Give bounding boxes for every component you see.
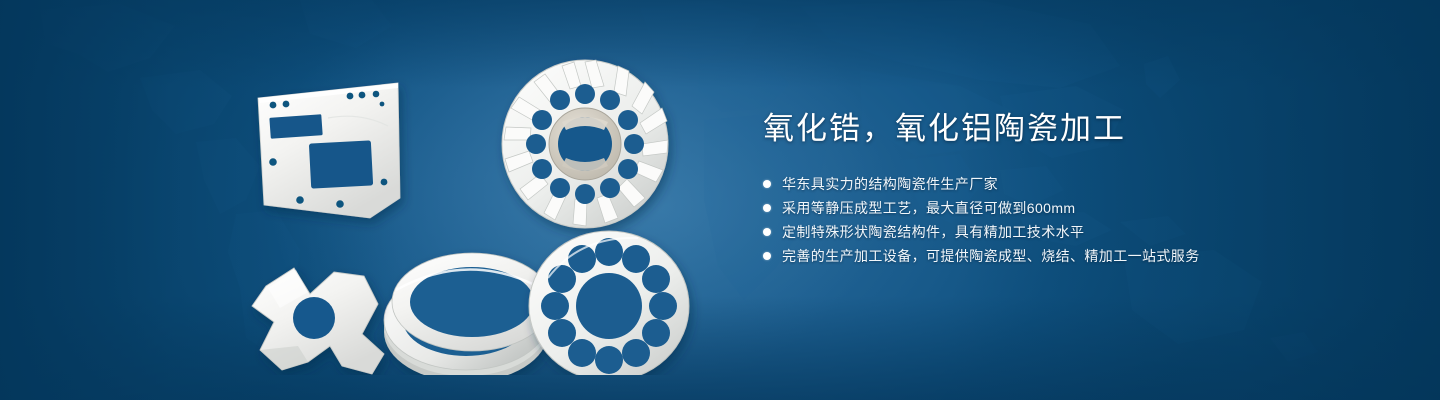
bullet-dot-icon bbox=[763, 228, 771, 236]
list-item-label: 采用等静压成型工艺，最大直径可做到600mm bbox=[782, 196, 1075, 220]
bullet-dot-icon bbox=[763, 252, 771, 260]
list-item: 完善的生产加工设备，可提供陶瓷成型、烧结、精加工一站式服务 bbox=[763, 244, 1363, 268]
list-item-label: 完善的生产加工设备，可提供陶瓷成型、烧结、精加工一站式服务 bbox=[782, 244, 1200, 268]
list-item-label: 定制特殊形状陶瓷结构件，具有精加工技术水平 bbox=[782, 220, 1084, 244]
ceramic-cross-part bbox=[252, 268, 384, 374]
list-item: 采用等静压成型工艺，最大直径可做到600mm bbox=[763, 196, 1363, 220]
feature-list: 华东具实力的结构陶瓷件生产厂家 采用等静压成型工艺，最大直径可做到600mm 定… bbox=[763, 172, 1363, 268]
ceramic-products-image bbox=[210, 30, 730, 375]
ceramic-plate-part bbox=[258, 83, 400, 218]
list-item: 华东具实力的结构陶瓷件生产厂家 bbox=[763, 172, 1363, 196]
ceramic-perforated-disc-part bbox=[529, 231, 689, 375]
bullet-dot-icon bbox=[763, 204, 771, 212]
page-title: 氧化锆，氧化铝陶瓷加工 bbox=[763, 108, 1363, 150]
bullet-dot-icon bbox=[763, 180, 771, 188]
list-item: 定制特殊形状陶瓷结构件，具有精加工技术水平 bbox=[763, 220, 1363, 244]
ceramic-impeller-part bbox=[502, 60, 668, 228]
hero-banner: 氧化锆，氧化铝陶瓷加工 华东具实力的结构陶瓷件生产厂家 采用等静压成型工艺，最大… bbox=[0, 0, 1440, 400]
list-item-label: 华东具实力的结构陶瓷件生产厂家 bbox=[782, 172, 998, 196]
ceramic-ring-part bbox=[384, 253, 552, 375]
copy-block: 氧化锆，氧化铝陶瓷加工 华东具实力的结构陶瓷件生产厂家 采用等静压成型工艺，最大… bbox=[763, 108, 1363, 268]
